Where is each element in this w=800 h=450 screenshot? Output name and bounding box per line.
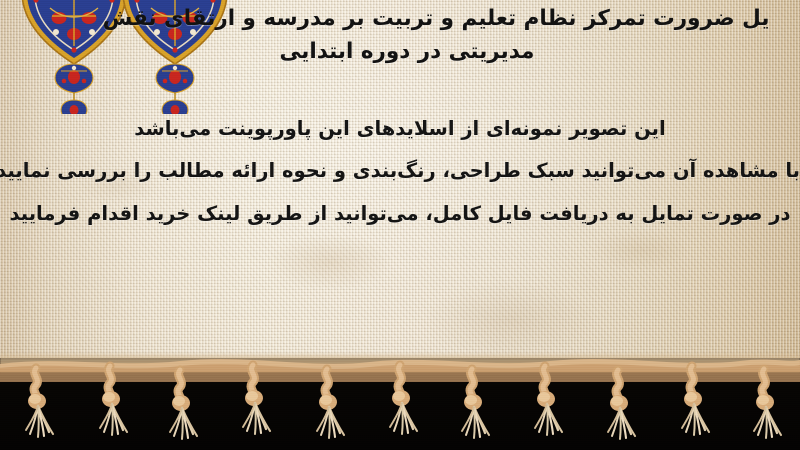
carpet-selvedge-edge [0,352,800,374]
slide-body-line-1: این تصویر نمونه‌ای از اسلایدهای این پاور… [0,108,800,150]
slide-body: این تصویر نمونه‌ای از اسلایدهای این پاور… [0,108,800,235]
slide-title: یل ضرورت تمرکز نظام تعلیم و تربیت بر مدر… [0,2,800,69]
slide-title-line-2: مدیریتی در دوره ابتدایی [14,35,800,68]
slide-title-line-1: یل ضرورت تمرکز نظام تعلیم و تربیت بر مدر… [14,2,800,35]
slide-body-line-3: در صورت تمایل به دریافت فایل کامل، می‌تو… [0,193,800,235]
slide-body-line-2: با مشاهده آن می‌توانید سبک طراحی، رنگ‌بن… [0,150,800,192]
presentation-slide: یل ضرورت تمرکز نظام تعلیم و تربیت بر مدر… [0,0,800,450]
